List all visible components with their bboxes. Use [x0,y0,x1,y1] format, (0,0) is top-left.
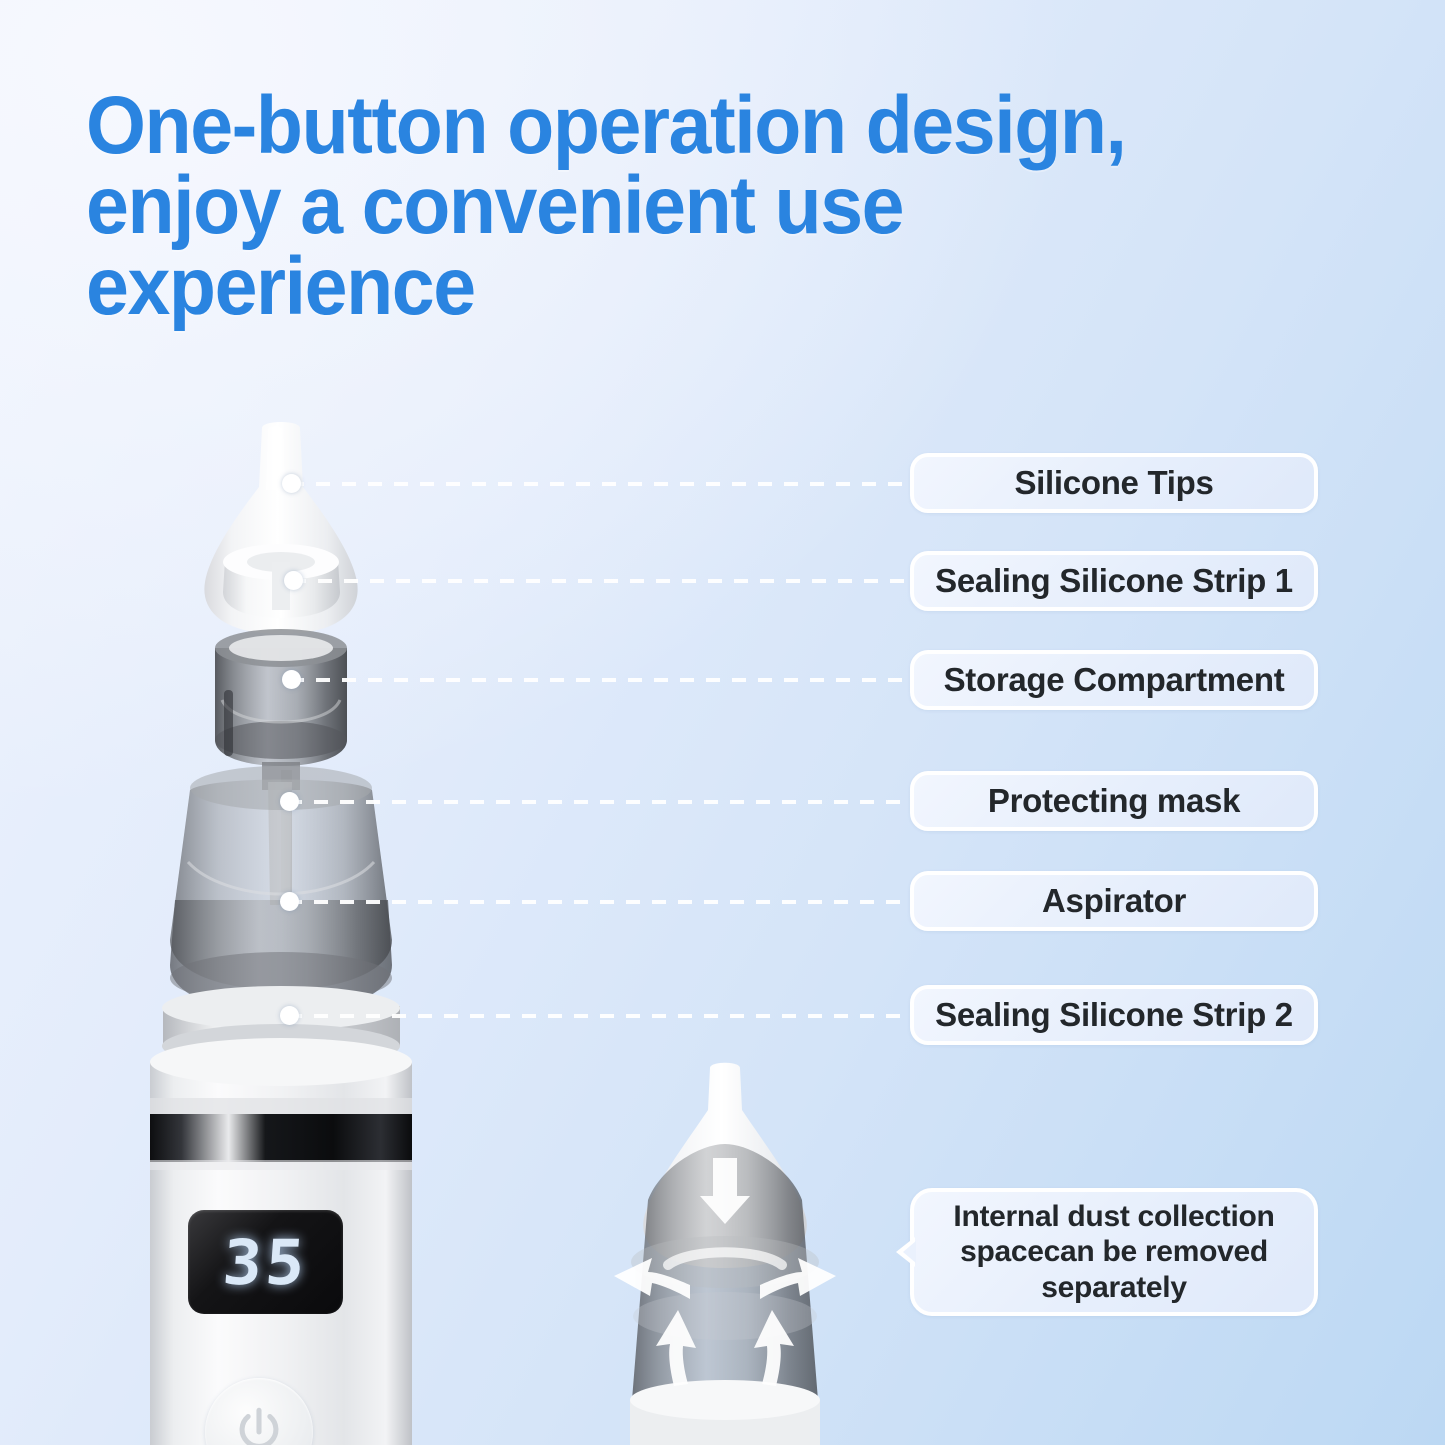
connector-dot-protecting-mask [280,792,299,811]
storage-compartment-part [215,629,347,766]
connector-dot-silicone-tips [282,474,301,493]
connector-line-protecting-mask [288,800,918,804]
callout-label: Sealing Silicone Strip 1 [935,562,1293,600]
callout-storage-compartment[interactable]: Storage Compartment [910,650,1318,710]
callout-sealing-silicone-strip-2[interactable]: Sealing Silicone Strip 2 [910,985,1318,1045]
callout-label: Protecting mask [988,782,1240,820]
connector-dot-sealing-strip-2 [280,1006,299,1025]
callout-aspirator[interactable]: Aspirator [910,871,1318,931]
connector-line-silicone-tips [290,482,918,486]
connector-line-sealing-strip-1 [292,579,918,583]
callout-pointer-inner-icon [903,1241,916,1263]
callout-sealing-silicone-strip-1[interactable]: Sealing Silicone Strip 1 [910,551,1318,611]
callout-label: Aspirator [1042,882,1186,920]
power-icon [230,1403,288,1445]
connector-line-storage-compartment [290,678,918,682]
connector-dot-storage-compartment [282,670,301,689]
connector-dot-aspirator [280,892,299,911]
callout-label-line-3: separately [928,1270,1300,1305]
inset-device [614,1063,836,1445]
callout-silicone-tips[interactable]: Silicone Tips [910,453,1318,513]
callout-label: Storage Compartment [944,661,1285,699]
callout-internal-dust-collection[interactable]: Internal dust collection spacecan be rem… [910,1188,1318,1316]
display-value: 35 [221,1226,311,1299]
connector-line-aspirator [288,900,918,904]
callout-label: Sealing Silicone Strip 2 [935,996,1293,1034]
callout-label-line-1: Internal dust collection [928,1199,1300,1234]
connector-dot-sealing-strip-1 [284,571,303,590]
led-display: 35 [188,1210,343,1314]
callout-label: Silicone Tips [1014,464,1213,502]
connector-line-sealing-strip-2 [288,1014,918,1018]
callout-protecting-mask[interactable]: Protecting mask [910,771,1318,831]
infographic-canvas: One-button operation design, enjoy a con… [0,0,1445,1445]
callout-label-line-2: spacecan be removed [928,1234,1300,1269]
